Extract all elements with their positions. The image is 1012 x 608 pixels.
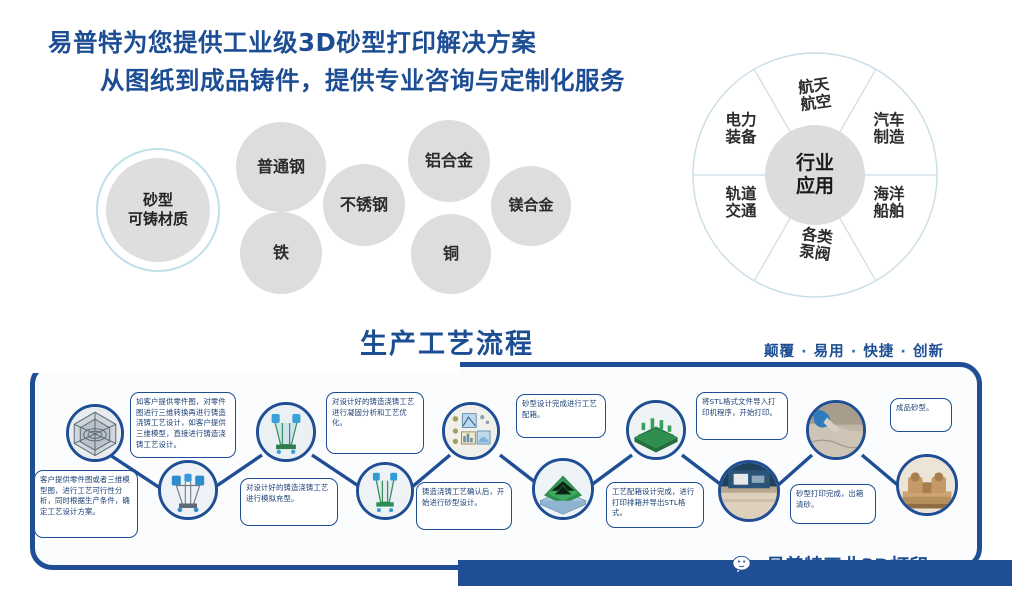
flow-node-9 <box>806 400 866 460</box>
slogan-cn-1: 颠覆 <box>764 344 795 360</box>
sand-mold-box-icon <box>629 403 683 457</box>
printer-photo-icon <box>721 463 777 519</box>
materials-core-circle: 砂型 可铸材质 <box>96 148 220 272</box>
slogan-cn-3: 快捷 <box>863 344 894 360</box>
flow-node-1 <box>66 404 124 462</box>
mold-assembly-icon <box>259 405 313 459</box>
flow-node-6 <box>532 458 594 520</box>
headline-block: 易普特为您提供工业级3D砂型打印解决方案 从图纸到成品铸件，提供专业咨询与定制化… <box>48 28 688 96</box>
flow-callout-8: 将STL格式文件导入打印机程序，开始打印。 <box>696 392 788 440</box>
flow-callout-7: 工艺配箱设计完成，进行打印排箱并导出STL格式。 <box>606 482 704 528</box>
material-bubble-tong: 铜 <box>411 214 491 294</box>
slogan-cn-2: 易用 <box>814 344 845 360</box>
wechat-icon <box>732 554 758 576</box>
flow-callout-6: 砂型设计完成进行工艺配箱。 <box>516 394 606 438</box>
footer-brand-text: 易普特工业3D打印 <box>766 551 928 578</box>
flow-node-3 <box>256 402 316 462</box>
footer-brand: 易普特工业3D打印 <box>732 551 928 578</box>
wheel-segment-power-equipment: 电力 装备 <box>708 112 774 147</box>
material-bubble-tie: 铁 <box>240 212 322 294</box>
material-bubble-buxiugang: 不锈钢 <box>323 164 405 246</box>
materials-core-label: 砂型 可铸材质 <box>106 158 210 262</box>
process-section-title: 生产工艺流程 <box>360 322 534 361</box>
solidification-mesh-icon <box>535 461 591 517</box>
flow-node-8 <box>718 460 780 522</box>
flow-callout-9: 砂型打印完成，出箱清砂。 <box>790 484 876 524</box>
poster-canvas: 易普特为您提供工业级3D砂型打印解决方案 从图纸到成品铸件，提供专业咨询与定制化… <box>0 0 1012 608</box>
material-bubble-meihejin: 镁合金 <box>491 166 571 246</box>
material-bubble-putong-gang: 普通钢 <box>236 122 326 212</box>
flow-callout-2: 如客户提供零件图，对零件图进行三维转换再进行铸造浇铸工艺设计，如客户提供三维模型… <box>130 392 236 458</box>
sand-cleaning-photo-icon <box>809 403 863 457</box>
wheel-segment-automotive: 汽车 制造 <box>856 112 922 147</box>
flow-callout-3: 对设计好的铸造浇铸工艺进行模拟充型。 <box>240 478 338 526</box>
slogan-dot-3: · <box>900 344 907 360</box>
flow-node-2 <box>158 460 218 520</box>
flow-node-7 <box>626 400 686 460</box>
material-bubble-lvhejin: 铝合金 <box>408 120 490 202</box>
finished-sand-mold-photo-icon <box>899 457 955 513</box>
flow-callout-4: 对设计好的铸造浇铸工艺进行凝固分析和工艺优化。 <box>326 392 424 454</box>
materials-group: 砂型 可铸材质 普通钢 铁 不锈钢 铝合金 铜 镁合金 <box>96 118 656 308</box>
flow-callout-5: 铸造浇铸工艺确认后，开始进行砂型设计。 <box>416 482 512 530</box>
slogan-cn-4: 创新 <box>913 344 944 360</box>
wheel-segment-marine: 海洋 船舶 <box>856 186 922 221</box>
wheel-segment-rail-transit: 轨道 交通 <box>708 186 774 221</box>
flow-node-4 <box>356 462 414 520</box>
flow-callout-1: 客户提供零件图或者三维模型图，进行工艺可行性分析，同时根据生产条件，确定工艺设计… <box>34 470 138 538</box>
material-label: 镁合金 <box>508 197 553 215</box>
flow-panel-top-notch <box>30 357 460 373</box>
flow-node-5 <box>442 402 500 460</box>
material-label: 不锈钢 <box>340 196 388 215</box>
flow-node-10 <box>896 454 958 516</box>
wireframe-part-icon <box>69 407 121 459</box>
material-label: 铝合金 <box>425 152 473 171</box>
slogan-chinese: 颠覆 · 易用 · 快捷 · 创新 <box>744 340 964 361</box>
headline-line-1: 易普特为您提供工业级3D砂型打印解决方案 <box>48 28 688 59</box>
material-label: 铜 <box>443 245 459 264</box>
headline-line-2: 从图纸到成品铸件，提供专业咨询与定制化服务 <box>48 65 688 97</box>
casting-runner-model-icon <box>161 463 215 517</box>
material-label: 普通钢 <box>257 158 305 177</box>
flow-callout-10: 成品砂型。 <box>890 398 952 432</box>
industry-application-wheel: 航天 航空 汽车 制造 海洋 船舶 各类 泵阀 轨道 交通 电力 装备 行业 应… <box>690 50 940 300</box>
slogan-dot-1: · <box>801 344 808 360</box>
wheel-center-label: 行业 应用 <box>765 125 865 225</box>
material-label: 铁 <box>273 244 289 263</box>
slogan-dot-2: · <box>851 344 858 360</box>
green-tree-casting-icon <box>359 465 411 517</box>
simulation-charts-icon <box>445 405 497 457</box>
